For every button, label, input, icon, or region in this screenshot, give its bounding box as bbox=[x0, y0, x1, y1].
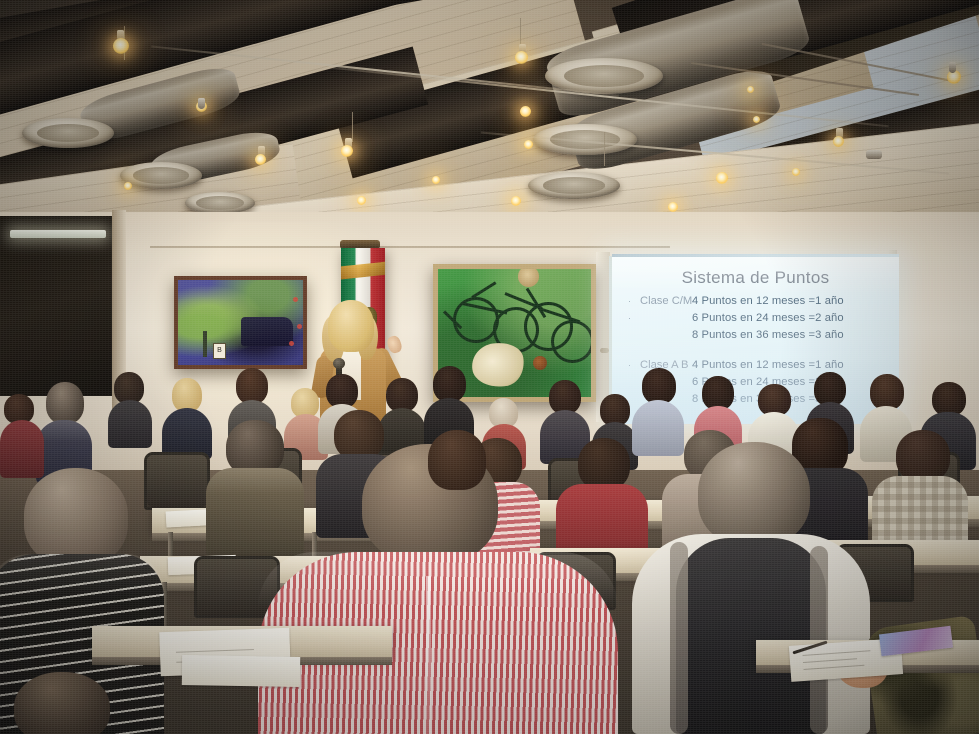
picture-rail bbox=[150, 246, 670, 248]
vest bbox=[676, 538, 826, 734]
ceiling-light bbox=[511, 196, 521, 206]
ceiling-light bbox=[792, 168, 800, 176]
track-lamp bbox=[198, 98, 205, 109]
classroom-photo: B Sistema de Puntos bbox=[0, 0, 979, 734]
ceiling-light bbox=[668, 202, 678, 212]
ceiling-light bbox=[524, 140, 533, 149]
track-lamp bbox=[949, 62, 956, 73]
track-lamp bbox=[866, 150, 882, 159]
ceiling-light bbox=[255, 154, 266, 165]
blue-abstract-painting: B bbox=[174, 276, 307, 369]
slide-class-label: Clase C/M bbox=[640, 293, 692, 310]
slide-bullet: · bbox=[628, 293, 640, 310]
door-handle[interactable] bbox=[600, 348, 609, 353]
light-hanger bbox=[520, 18, 521, 46]
ceiling-light bbox=[747, 86, 754, 93]
presenter-hair bbox=[328, 300, 374, 352]
shirt-placket bbox=[426, 576, 431, 734]
ceiling-light bbox=[113, 38, 129, 54]
ceiling bbox=[0, 0, 979, 248]
air-diffuser bbox=[185, 192, 255, 214]
air-diffuser bbox=[528, 172, 620, 199]
air-diffuser bbox=[120, 162, 202, 189]
ceiling-light bbox=[124, 182, 132, 190]
slide-line: 4 Puntos en 12 meses =1 año bbox=[692, 293, 844, 310]
ceiling-light bbox=[341, 145, 353, 157]
list-item bbox=[108, 372, 152, 442]
slide-block-1: · Clase C/M 4 Puntos en 12 meses =1 año … bbox=[628, 293, 890, 344]
ceiling-light bbox=[357, 196, 366, 205]
curly-hair-woman bbox=[406, 430, 502, 550]
paper bbox=[182, 655, 301, 687]
slide-line: 6 Puntos en 24 meses =2 año bbox=[692, 310, 844, 327]
ceiling-light bbox=[520, 106, 531, 117]
slide-bullet: · bbox=[628, 310, 640, 327]
microphone-head bbox=[333, 358, 345, 369]
light-hanger bbox=[604, 132, 605, 166]
ceiling-light bbox=[753, 116, 760, 123]
list-item bbox=[14, 672, 110, 734]
ceiling-light bbox=[515, 51, 528, 64]
ceiling-light bbox=[432, 176, 440, 184]
list-item bbox=[36, 382, 92, 478]
light-hanger bbox=[352, 112, 353, 142]
ceiling-light bbox=[833, 136, 844, 147]
slide-line: 8 Puntos en 36 meses =3 año bbox=[692, 327, 844, 344]
vest-man bbox=[632, 442, 870, 734]
slide-title: Sistema de Puntos bbox=[612, 268, 899, 288]
list-item bbox=[0, 394, 44, 474]
list-item bbox=[162, 378, 212, 454]
doorway-left bbox=[0, 216, 118, 396]
ceiling-light bbox=[716, 172, 728, 184]
painting-plaque: B bbox=[213, 343, 226, 359]
vest-strap bbox=[670, 542, 688, 734]
air-diffuser bbox=[22, 118, 114, 148]
